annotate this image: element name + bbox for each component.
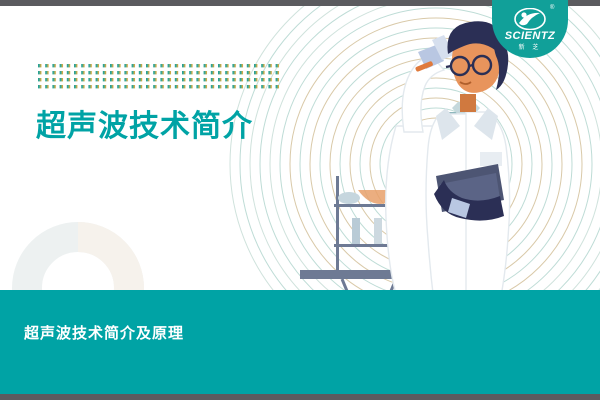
bottom-banner: 超声波技术简介及原理 — [0, 290, 600, 394]
banner-subtitle: 超声波技术简介及原理 — [24, 322, 184, 343]
logo-brand-text: SCIENTZ — [492, 30, 568, 42]
safety-glasses-icon — [446, 56, 491, 75]
test-tube-icon — [415, 35, 454, 72]
clipboard-icon — [436, 164, 504, 212]
dot-grid-pattern — [38, 64, 282, 92]
swoosh-icon — [514, 8, 546, 30]
brand-logo[interactable]: ® SCIENTZ 新 芝 — [492, 0, 568, 58]
slide-root: 超声波技术简介 超声波技术简介及原理 ® SCIENTZ 新 芝 — [0, 0, 600, 400]
logo-brand-cn: 新 芝 — [492, 42, 568, 51]
registered-mark: ® — [550, 5, 554, 11]
lab-cart-icon — [334, 176, 442, 276]
bottom-edge-bar — [0, 394, 600, 400]
page-title: 超声波技术简介 — [36, 101, 253, 145]
